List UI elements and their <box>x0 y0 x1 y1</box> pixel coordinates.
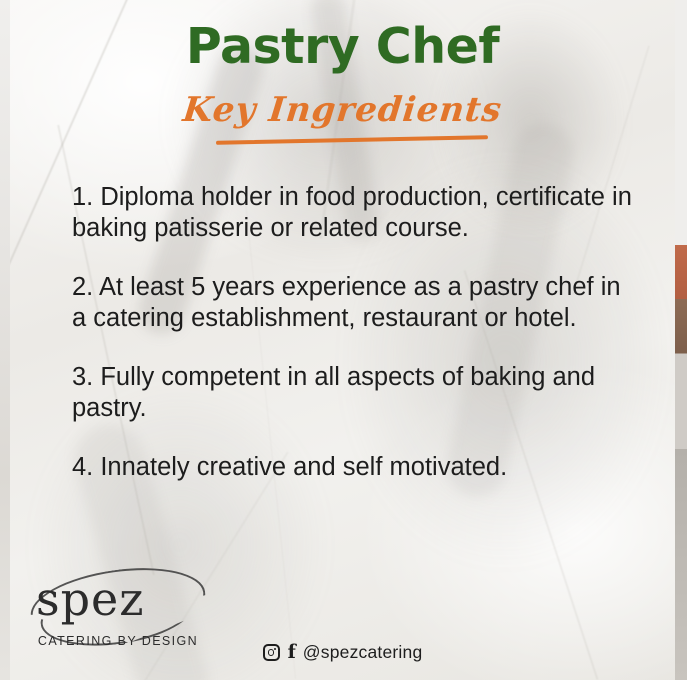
requirement-item: 2. At least 5 years experience as a past… <box>72 272 632 334</box>
poster-subtitle: Key Ingredients <box>10 93 675 127</box>
facebook-icon[interactable]: f <box>288 644 296 661</box>
requirement-item: 1. Diploma holder in food production, ce… <box>72 182 632 244</box>
requirement-item: 4. Innately creative and self motivated. <box>72 452 632 483</box>
requirement-item: 3. Fully competent in all aspects of bak… <box>72 362 632 424</box>
adjacent-post-sliver-right <box>675 0 687 680</box>
requirements-list: 1. Diploma holder in food production, ce… <box>72 182 632 483</box>
poster-title: Pastry Chef <box>10 22 675 71</box>
social-handle-row: f @spezcatering <box>10 642 675 663</box>
social-handle-text: @spezcatering <box>303 642 423 663</box>
poster-card: Pastry Chef Key Ingredients 1. Diploma h… <box>10 0 675 680</box>
logo-wordmark: spez <box>36 572 145 626</box>
adjacent-post-sliver-left <box>0 0 10 680</box>
poster-page: Pastry Chef Key Ingredients 1. Diploma h… <box>0 0 687 680</box>
instagram-icon[interactable] <box>263 644 280 661</box>
